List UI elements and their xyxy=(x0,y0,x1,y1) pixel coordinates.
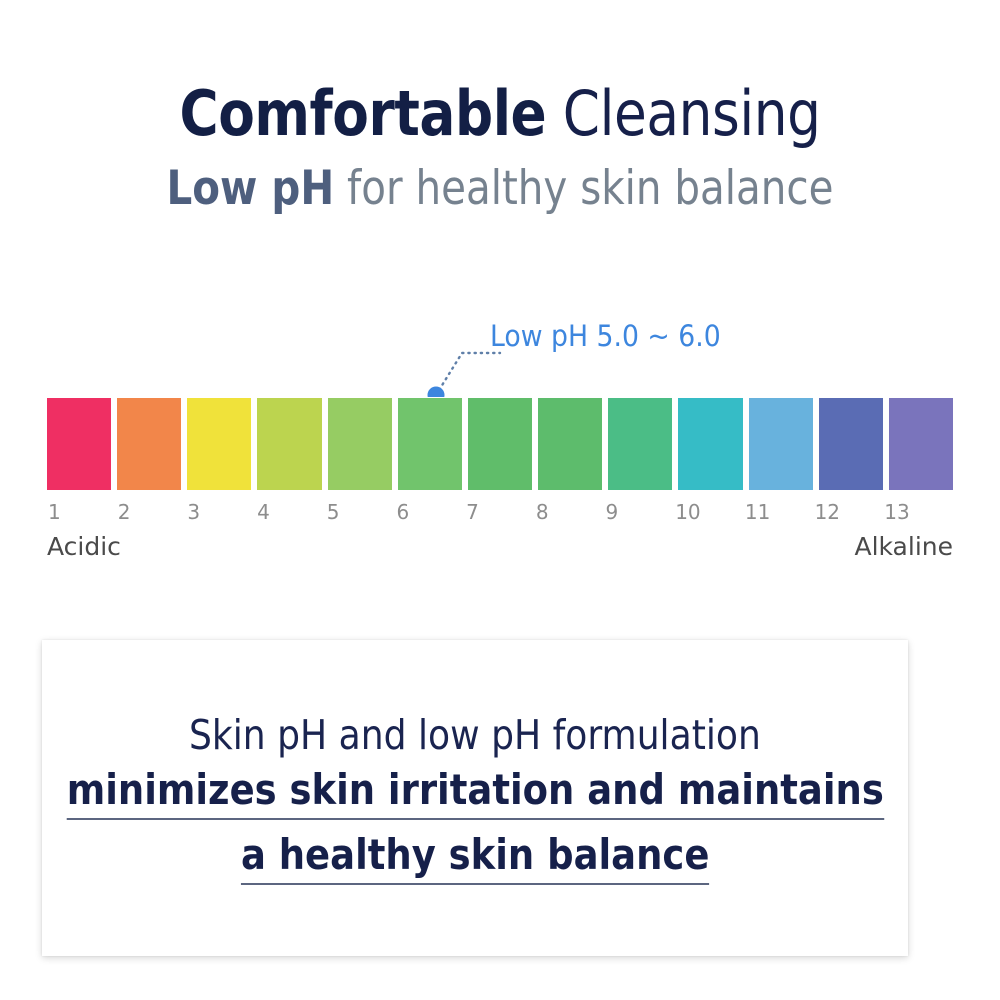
ph-swatch-10 xyxy=(678,398,742,490)
ph-swatch-6 xyxy=(398,398,462,490)
info-card: Skin pH and low pH formulation minimizes… xyxy=(42,640,908,956)
ph-swatch-13 xyxy=(889,398,953,490)
ph-swatch-1 xyxy=(47,398,111,490)
ph-annotation-label: Low pH 5.0 ~ 6.0 xyxy=(490,319,721,353)
ph-swatch-12 xyxy=(819,398,883,490)
ph-swatch-11 xyxy=(749,398,813,490)
ph-endpoint-alkaline: Alkaline xyxy=(854,532,953,561)
ph-scale-section: Low pH 5.0 ~ 6.0 1 2 3 4 5 6 7 8 xyxy=(47,315,953,566)
ph-swatch-row xyxy=(47,398,953,490)
info-card-line-1: Skin pH and low pH formulation xyxy=(189,711,761,759)
ph-tick-1: 1 xyxy=(47,500,117,524)
ph-tick-5: 5 xyxy=(326,500,396,524)
page-title: Comfortable Cleansing xyxy=(70,78,930,150)
page-subtitle-emphasis: Low pH xyxy=(166,161,334,216)
ph-swatch-8 xyxy=(538,398,602,490)
ph-tick-6: 6 xyxy=(395,500,465,524)
ph-swatch-5 xyxy=(328,398,392,490)
info-card-line-3: a healthy skin balance xyxy=(241,832,709,885)
ph-endpoint-labels: Acidic Alkaline xyxy=(47,532,953,566)
page-root: Comfortable Cleansing Low pH for healthy… xyxy=(0,0,1000,1000)
ph-tick-10: 10 xyxy=(674,500,744,524)
ph-tick-12: 12 xyxy=(814,500,884,524)
ph-marker-dot xyxy=(428,387,445,398)
ph-tick-3: 3 xyxy=(186,500,256,524)
ph-tick-11: 11 xyxy=(744,500,814,524)
ph-swatch-3 xyxy=(187,398,251,490)
ph-tick-2: 2 xyxy=(117,500,187,524)
ph-tick-9: 9 xyxy=(605,500,675,524)
ph-swatch-4 xyxy=(257,398,321,490)
heading-block: Comfortable Cleansing Low pH for healthy… xyxy=(0,78,1000,218)
ph-swatch-7 xyxy=(468,398,532,490)
page-subtitle: Low pH for healthy skin balance xyxy=(70,160,930,218)
ph-annotation: Low pH 5.0 ~ 6.0 xyxy=(47,315,953,398)
ph-tick-4: 4 xyxy=(256,500,326,524)
info-card-line-2: minimizes skin irritation and maintains xyxy=(66,767,883,820)
ph-tick-13: 13 xyxy=(883,500,953,524)
ph-endpoint-acidic: Acidic xyxy=(47,532,121,561)
page-title-rest: Cleansing xyxy=(546,77,820,150)
ph-tick-8: 8 xyxy=(535,500,605,524)
leader-line-icon xyxy=(372,327,502,397)
ph-swatch-2 xyxy=(117,398,181,490)
ph-tick-7: 7 xyxy=(465,500,535,524)
ph-tick-row: 1 2 3 4 5 6 7 8 9 10 11 12 13 xyxy=(47,500,953,524)
ph-swatch-9 xyxy=(608,398,672,490)
page-subtitle-rest: for healthy skin balance xyxy=(334,161,833,216)
page-title-emphasis: Comfortable xyxy=(179,77,546,150)
